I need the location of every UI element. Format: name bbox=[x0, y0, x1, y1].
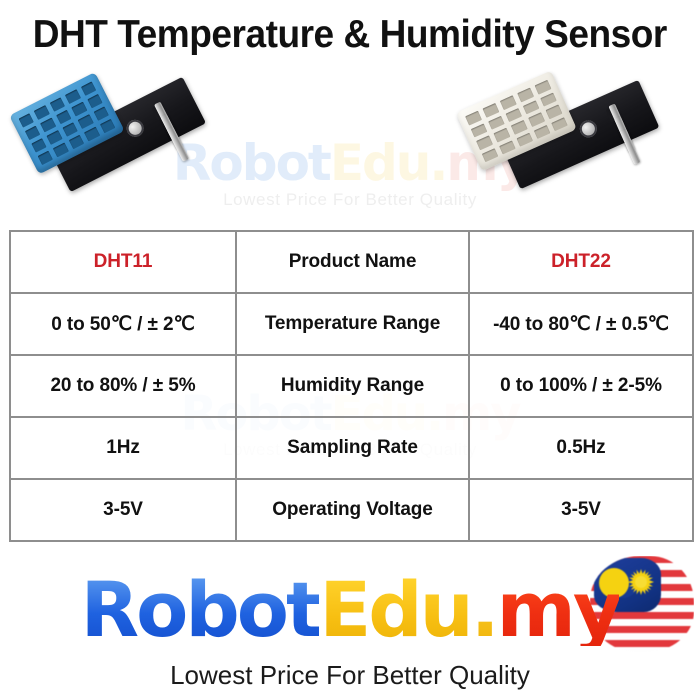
page-title-bar: DHT Temperature & Humidity Sensor bbox=[0, 8, 700, 60]
watermark-logo-dot: . bbox=[429, 134, 446, 192]
cell-dht22-model: DHT22 bbox=[469, 231, 693, 293]
cell-dht11-temperature-range: 0 to 50℃ / ± 2℃ bbox=[10, 293, 236, 355]
brand-logo-robot: Robot bbox=[81, 574, 320, 646]
cell-label-sampling-rate: Sampling Rate bbox=[236, 417, 469, 479]
dht11-sensor-image bbox=[3, 62, 191, 222]
brand-logo-my: my bbox=[497, 574, 620, 646]
dht22-sensor-image bbox=[454, 62, 640, 222]
brand-logo-edu: Edu bbox=[319, 574, 470, 646]
brand-logo[interactable]: RobotEdu.my bbox=[0, 574, 700, 646]
cell-dht22-temperature-range: -40 to 80℃ / ± 0.5℃ bbox=[469, 293, 693, 355]
specification-table: DHT11 Product Name DHT22 0 to 50℃ / ± 2℃… bbox=[9, 230, 694, 542]
cell-dht22-humidity-range: 0 to 100% / ± 2-5% bbox=[469, 355, 693, 417]
product-image-band: RobotEdu.my Lowest Price For Better Qual… bbox=[0, 62, 700, 222]
table-row: 3-5V Operating Voltage 3-5V bbox=[10, 479, 693, 541]
watermark-logo-edu: Edu bbox=[330, 134, 430, 192]
cell-dht22-operating-voltage: 3-5V bbox=[469, 479, 693, 541]
page-title: DHT Temperature & Humidity Sensor bbox=[33, 15, 667, 54]
footer-branding: RobotEdu.my Lowest Price For Better Qual… bbox=[0, 556, 700, 700]
brand-logo-text: RobotEdu.my bbox=[81, 574, 620, 646]
watermark-logo-robot: Robot bbox=[173, 134, 330, 192]
cell-dht11-operating-voltage: 3-5V bbox=[10, 479, 236, 541]
table-row: 20 to 80% / ± 5% Humidity Range 0 to 100… bbox=[10, 355, 693, 417]
brand-tagline: Lowest Price For Better Quality bbox=[0, 660, 700, 691]
cell-label-operating-voltage: Operating Voltage bbox=[236, 479, 469, 541]
table-row: 0 to 50℃ / ± 2℃ Temperature Range -40 to… bbox=[10, 293, 693, 355]
table-row: 1Hz Sampling Rate 0.5Hz bbox=[10, 417, 693, 479]
cell-label-humidity-range: Humidity Range bbox=[236, 355, 469, 417]
cell-label-temperature-range: Temperature Range bbox=[236, 293, 469, 355]
brand-logo-dot: . bbox=[471, 574, 497, 646]
table-row: DHT11 Product Name DHT22 bbox=[10, 231, 693, 293]
cell-dht22-sampling-rate: 0.5Hz bbox=[469, 417, 693, 479]
cell-dht11-sampling-rate: 1Hz bbox=[10, 417, 236, 479]
cell-label-product-name: Product Name bbox=[236, 231, 469, 293]
product-info-card: DHT Temperature & Humidity Sensor RobotE… bbox=[0, 0, 700, 700]
cell-dht11-model: DHT11 bbox=[10, 231, 236, 293]
cell-dht11-humidity-range: 20 to 80% / ± 5% bbox=[10, 355, 236, 417]
